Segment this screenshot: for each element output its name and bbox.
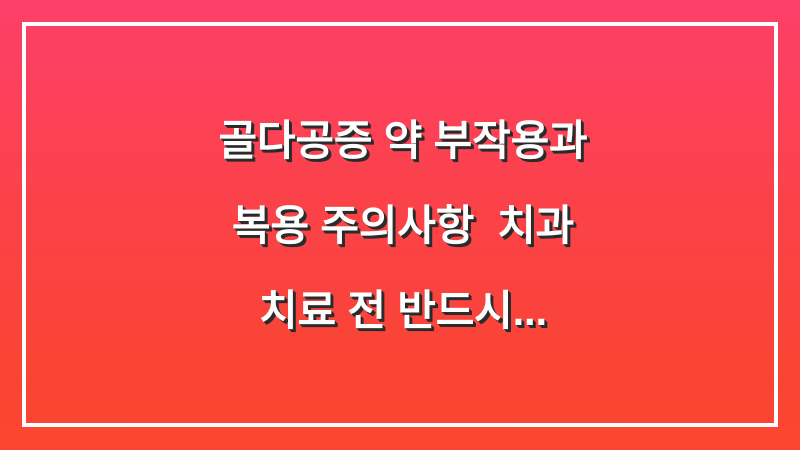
headline-line-1: 골다공증 약 부작용과: [219, 98, 588, 183]
headline-line-3: 치료 전 반드시...: [259, 268, 547, 353]
headline-line-2: 복용 주의사항 치과: [232, 183, 574, 268]
headline-block: 골다공증 약 부작용과 복용 주의사항 치과 치료 전 반드시...: [0, 0, 800, 450]
thumbnail-card: 골다공증 약 부작용과 복용 주의사항 치과 치료 전 반드시...: [0, 0, 800, 450]
